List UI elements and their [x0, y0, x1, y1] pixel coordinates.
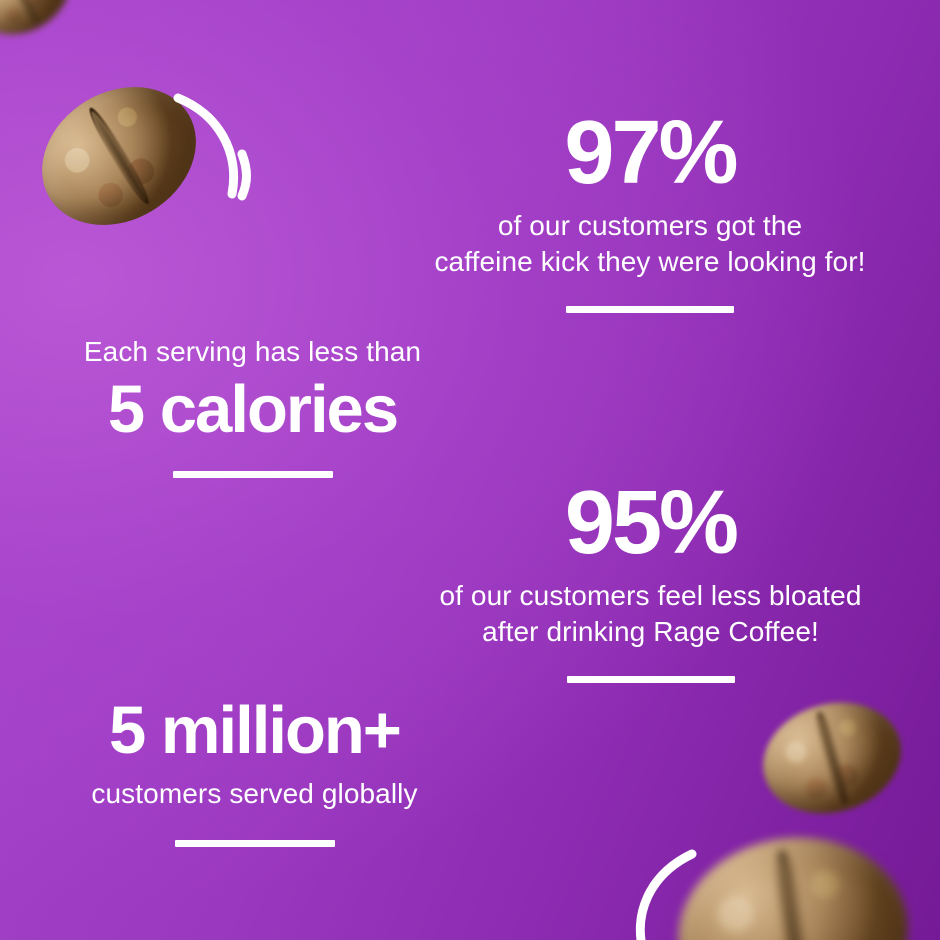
- stat-block-bloated: 95% of our customers feel less bloated a…: [418, 478, 883, 683]
- coffee-bean-icon-right: [750, 687, 914, 829]
- stat-divider-caffeine: [566, 306, 734, 313]
- stat-divider-customers: [175, 840, 335, 847]
- stat-value-caffeine: 97%: [420, 108, 880, 198]
- stat-value-bloated: 95%: [418, 478, 883, 568]
- stat-description-bloated: of our customers feel less bloated after…: [418, 578, 883, 650]
- motion-arc-icon-bottom: [620, 848, 730, 940]
- stat-divider-bloated: [567, 676, 735, 683]
- coffee-bean-icon-top-left: [0, 0, 86, 51]
- stat-block-customers: 5 million+ customers served globally: [62, 697, 447, 847]
- stat-block-calories: Each serving has less than 5 calories: [60, 334, 445, 478]
- motion-arcs-icon-hero: [168, 90, 264, 210]
- stat-description-customers: customers served globally: [62, 776, 447, 812]
- stat-value-customers: 5 million+: [62, 697, 447, 764]
- promo-poster: 97% of our customers got the caffeine ki…: [0, 0, 940, 940]
- stat-lead-calories: Each serving has less than: [60, 334, 445, 370]
- stat-description-caffeine: of our customers got the caffeine kick t…: [420, 208, 880, 280]
- stat-divider-calories: [173, 471, 333, 478]
- stat-value-calories: 5 calories: [60, 376, 445, 443]
- stat-block-caffeine: 97% of our customers got the caffeine ki…: [420, 108, 880, 313]
